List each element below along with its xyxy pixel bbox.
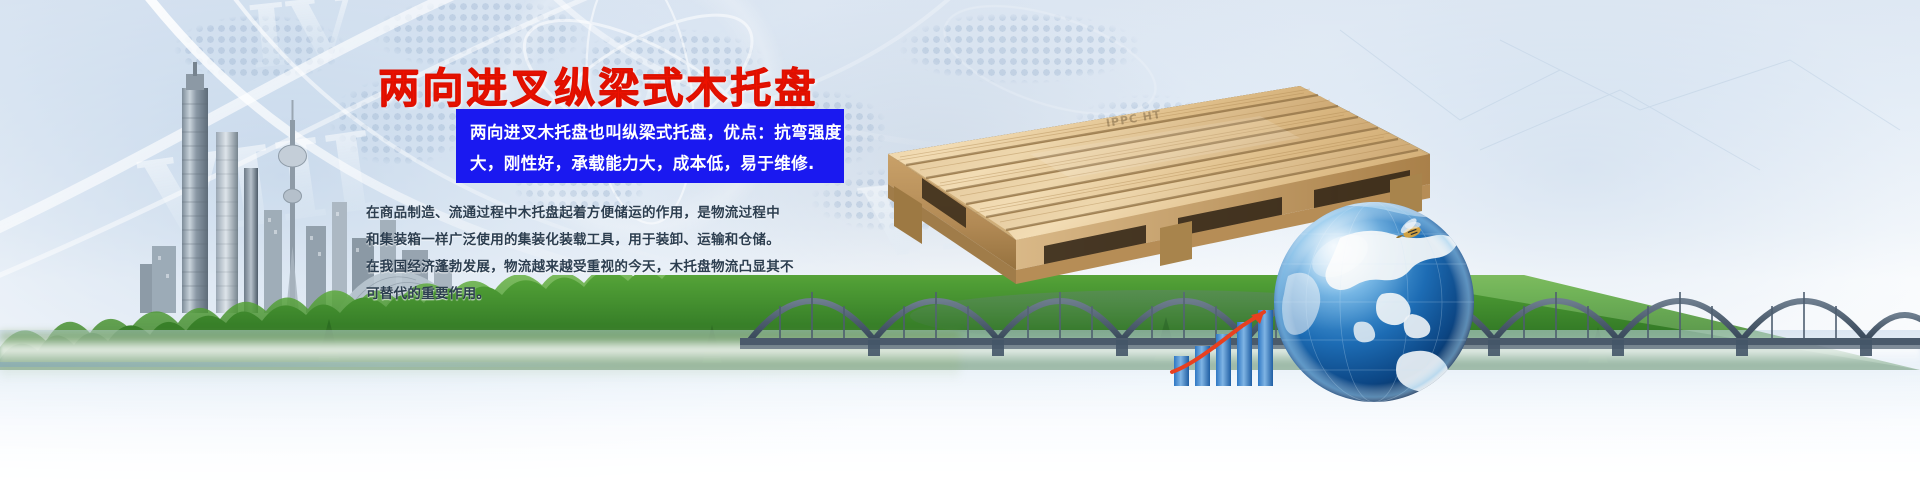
description-line-4: 可替代的重要作用。 — [366, 281, 852, 308]
horizon-strip — [0, 362, 640, 367]
description-paragraph: 在商品制造、流通过程中木托盘起着方便储运的作用，是物流过程中 和集装箱一样广泛使… — [366, 200, 852, 308]
blue-earth-globe — [1262, 190, 1492, 420]
highlight-line-2: 大，刚性好，承载能力大，成本低，易于维修. — [470, 148, 834, 179]
product-banner: IV VIII VII VI — [0, 0, 1920, 500]
description-line-1: 在商品制造、流通过程中木托盘起着方便储运的作用，是物流过程中 — [366, 200, 852, 227]
highlight-box: 两向进叉木托盘也叫纵梁式托盘，优点：抗弯强度 大，刚性好，承载能力大，成本低，易… — [456, 109, 844, 183]
highlight-line-1: 两向进叉木托盘也叫纵梁式托盘，优点：抗弯强度 — [470, 117, 834, 148]
description-line-3: 在我国经济蓬勃发展，物流越来越受重视的今天，木托盘物流凸显其不 — [366, 254, 852, 281]
description-line-2: 和集装箱一样广泛使用的集装化装载工具，用于装卸、运输和仓储。 — [366, 227, 852, 254]
page-title: 两向进叉纵梁式木托盘 — [378, 54, 818, 114]
